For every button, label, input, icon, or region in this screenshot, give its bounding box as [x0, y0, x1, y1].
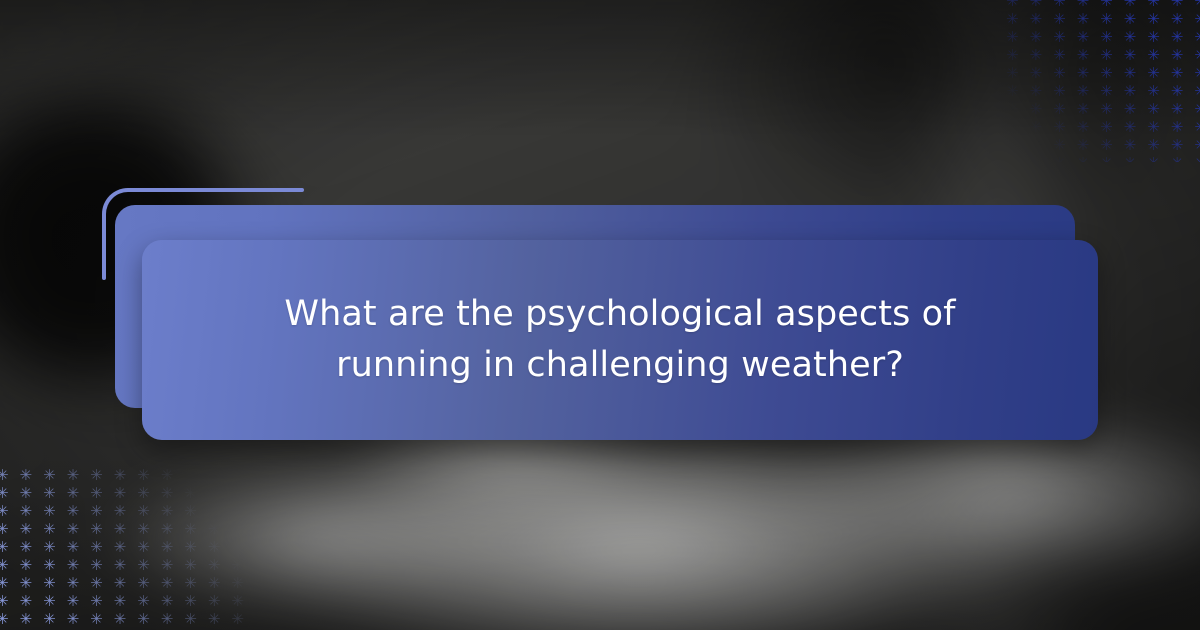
quote-card-stage: ✳ ✳ ✳ ✳ ✳ ✳ ✳ ✳ ✳ ✳ ✳ ✳ ✳ ✳ ✳ ✳ ✳ ✳ ✳ ✳ …: [0, 0, 1200, 630]
quote-card: What are the psychological aspects of ru…: [142, 240, 1098, 440]
card-stack: What are the psychological aspects of ru…: [0, 0, 1200, 630]
quote-text: What are the psychological aspects of ru…: [210, 289, 1030, 391]
